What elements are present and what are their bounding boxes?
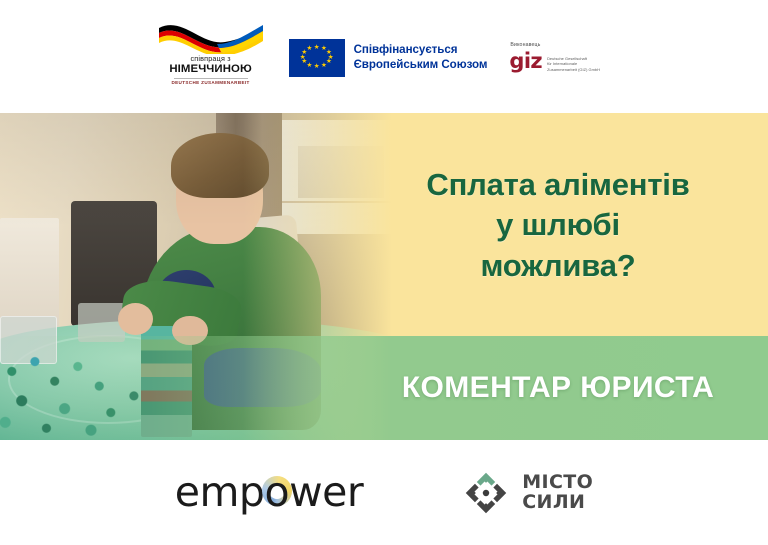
empower-logo: empower [175, 472, 363, 513]
eu-flag-icon: ★ ★ ★ ★ ★ ★ ★ ★ ★ ★ ★ ★ [289, 39, 345, 77]
misto-syly-line1: МІСТО [522, 473, 593, 492]
giz-description-line3: Zusammenarbeit (GIZ) GmbH [547, 67, 600, 73]
poster-title-line-3: можлива? [380, 246, 736, 286]
photo-boy-hair [171, 133, 269, 198]
poster-title-line-2: у шлюбі [380, 205, 736, 245]
eu-logo-text-line1: Співфінансується [354, 43, 488, 58]
german-cooperation-logo: співпраця з НІМЕЧЧИНОЮ DEUTSCHE ZUSAMMEN… [155, 20, 267, 96]
german-ukraine-ribbon-icon [155, 20, 267, 54]
european-union-logo: ★ ★ ★ ★ ★ ★ ★ ★ ★ ★ ★ ★ Співфінансується… [289, 39, 488, 77]
empower-text-before: emp [175, 468, 265, 516]
empower-text-o: o [264, 468, 289, 516]
empower-text-after: wer [289, 468, 363, 516]
german-logo-line3: DEUTSCHE ZUSAMMENARBEIT [155, 80, 267, 85]
german-logo-line1: співпраця з [155, 55, 267, 63]
german-logo-divider [174, 78, 248, 79]
photo-window-mullion [274, 201, 392, 203]
poster-title-line-1: Сплата аліментів [380, 165, 736, 205]
giz-implementer-label: Виконавець [510, 42, 613, 48]
eu-logo-text: Співфінансується Європейським Союзом [354, 43, 488, 72]
german-logo-line2: НІМЕЧЧИНОЮ [155, 63, 267, 76]
giz-wordmark: giz [509, 52, 542, 71]
giz-logo: Виконавець giz Deutsche Gesellschaft für… [509, 42, 613, 73]
giz-description: Deutsche Gesellschaft für Internationale… [547, 52, 600, 73]
donor-logo-strip: співпраця з НІМЕЧЧИНОЮ DEUTSCHE ZUSAMMEN… [0, 0, 768, 113]
photo-window-view [298, 146, 384, 198]
misto-syly-diamond-icon [463, 470, 509, 516]
photo-boy-hand-left [118, 303, 153, 336]
poster-root: співпраця з НІМЕЧЧИНОЮ DEUTSCHE ZUSAMMEN… [0, 0, 768, 545]
empower-o-mark: o [264, 472, 289, 513]
green-ribbon-band: КОМЕНТАР ЮРИСТА [0, 336, 768, 440]
misto-syly-wordmark: МІСТО СИЛИ [522, 473, 593, 512]
partner-logo-strip: empower [0, 440, 768, 545]
misto-syly-line2: СИЛИ [522, 493, 593, 512]
ribbon-label: КОМЕНТАР ЮРИСТА [380, 371, 736, 405]
misto-syly-logo: МІСТО СИЛИ [463, 470, 593, 516]
main-banner: Сплата аліментів у шлюбі можлива? КОМЕНТ… [0, 113, 768, 440]
eu-logo-text-line2: Європейським Союзом [354, 58, 488, 73]
poster-title: Сплата аліментів у шлюбі можлива? [380, 165, 736, 286]
